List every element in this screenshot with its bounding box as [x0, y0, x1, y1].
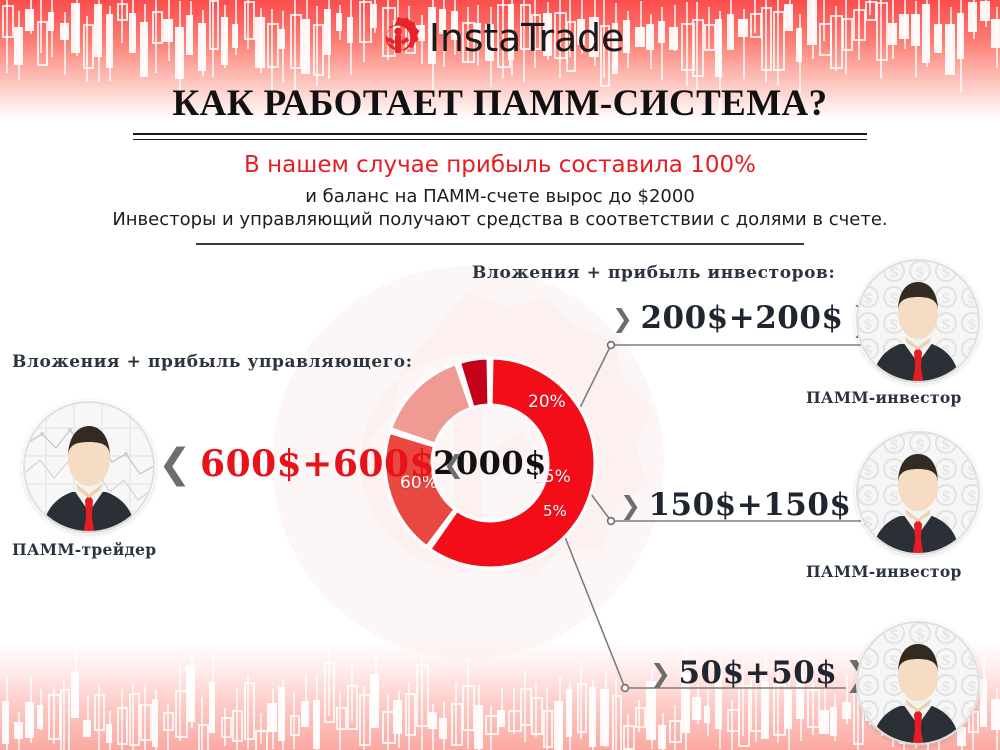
chevron-left-small-icon: ❮ — [443, 452, 464, 477]
investor-2-avatar[interactable]: $ — [855, 430, 981, 556]
brand-name-part1: Insta — [429, 16, 521, 60]
trader-amount-value: 600$+600$ — [200, 443, 435, 485]
trader-caption: ПАММ-трейдер — [12, 540, 156, 559]
trader-avatar[interactable] — [22, 400, 156, 534]
subtitle-divider — [196, 243, 804, 245]
investor-avatar-icon: $ — [855, 430, 981, 556]
subtitle-line-3: Инвесторы и управляющий получают средств… — [0, 209, 1000, 230]
trader-avatar-icon — [22, 400, 156, 534]
investor-3-avatar[interactable]: $ — [855, 620, 981, 746]
infographic-canvas: InstaTrade КАК РАБОТАЕТ ПАММ-СИСТЕМА? В … — [0, 0, 1000, 750]
subtitle-line-2: и баланс на ПАММ-счете вырос до $2000 — [0, 186, 1000, 207]
instatrade-gear-logo-icon — [376, 16, 420, 60]
investor-avatar-icon: $ — [855, 620, 981, 746]
investor-2-caption: ПАММ-инвестор — [806, 562, 962, 581]
donut-slice-15[interactable] — [391, 364, 471, 444]
investors-heading: Вложения + прибыль инвесторов: — [472, 263, 835, 283]
investor-1-caption: ПАММ-инвестор — [806, 388, 962, 407]
brand-name: InstaTrade — [429, 19, 624, 57]
investor-3-amount-value: 50$+50$ — [678, 655, 837, 691]
chevron-left-icon: ❮ — [158, 444, 192, 484]
trader-amount: ❮ 600$+600$ ❮ — [158, 443, 465, 485]
investor-2-amount-value: 150$+150$ — [648, 487, 851, 523]
brand-name-part2: Trade — [521, 16, 624, 60]
investor-2-amount: ❯ 150$+150$ ❯ — [620, 487, 887, 523]
investor-avatar-icon: $ — [855, 258, 981, 384]
investor-1-avatar[interactable]: $ — [855, 258, 981, 384]
chevron-right-small-icon: ❯ — [612, 306, 633, 331]
investor-3-amount: ❯ 50$+50$ ❯ — [650, 655, 873, 691]
brand-logo[interactable]: InstaTrade — [0, 10, 1000, 66]
page-title: КАК РАБОТАЕТ ПАММ-СИСТЕМА? — [0, 82, 1000, 125]
investor-1-amount: ❯ 200$+200$ ❯ — [612, 300, 879, 336]
chevron-right-small-icon: ❯ — [620, 493, 641, 518]
trader-heading: Вложения + прибыль управляющего: — [12, 352, 413, 372]
title-divider — [133, 133, 867, 140]
investor-1-amount-value: 200$+200$ — [640, 300, 843, 336]
subtitle-highlight: В нашем случае прибыль составила 100% — [0, 152, 1000, 178]
chevron-right-small-icon: ❯ — [650, 661, 671, 686]
